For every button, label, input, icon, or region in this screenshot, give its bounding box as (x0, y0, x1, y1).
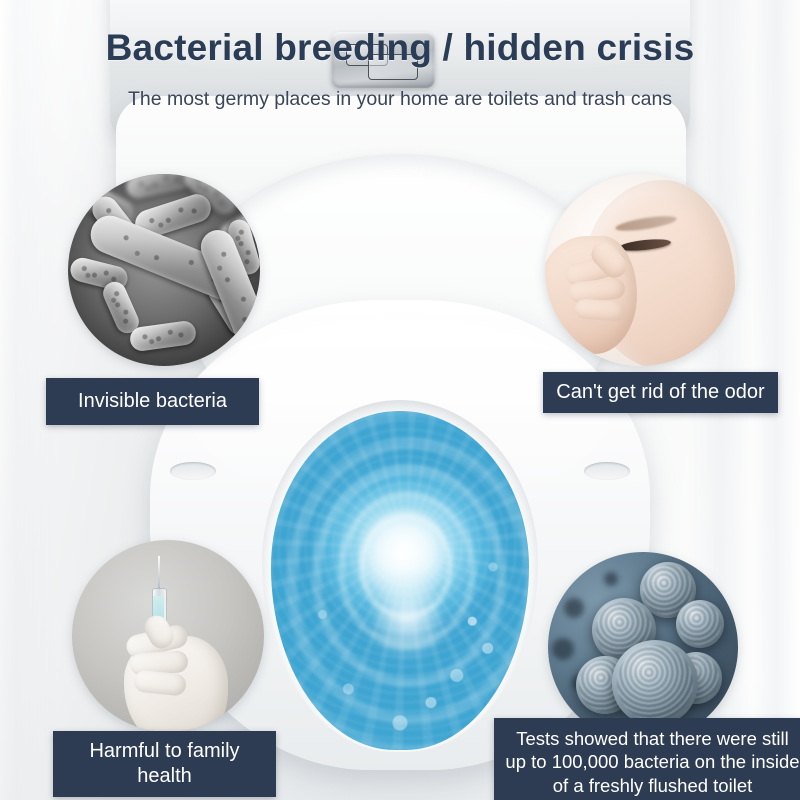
callout-image-test-result (548, 552, 738, 742)
callout-image-invisible-bacteria (68, 174, 260, 366)
callout-image-family-health (72, 540, 264, 732)
coccus-cell-icon (676, 600, 724, 648)
swirling-water (271, 411, 529, 750)
callout-label-invisible-bacteria: Invisible bacteria (46, 378, 259, 425)
finger (574, 298, 625, 321)
background-spore (564, 598, 584, 618)
callout-label-odor: Can't get rid of the odor (543, 372, 778, 413)
toilet-bowl (262, 400, 538, 752)
page-title: Bacterial breeding / hidden crisis (0, 27, 800, 69)
syringe-needle-icon (158, 556, 160, 590)
callout-label-test-result: Tests showed that there were still up to… (494, 718, 800, 800)
background-spore (552, 638, 574, 660)
callout-image-odor (545, 174, 737, 366)
page-subtitle: The most germy places in your home are t… (0, 88, 800, 111)
lips (545, 174, 587, 196)
background-spore (604, 572, 618, 586)
water-bubbles (271, 411, 529, 750)
poster-canvas: Bacterial breeding / hidden crisis The m… (0, 0, 800, 800)
seat-bumper-left (170, 462, 216, 480)
bacteria-rod-icon (129, 320, 198, 353)
seat-bumper-right (584, 462, 630, 480)
coccus-cell-main-icon (612, 640, 698, 726)
callout-label-family-health: Harmful to family health (53, 731, 276, 797)
